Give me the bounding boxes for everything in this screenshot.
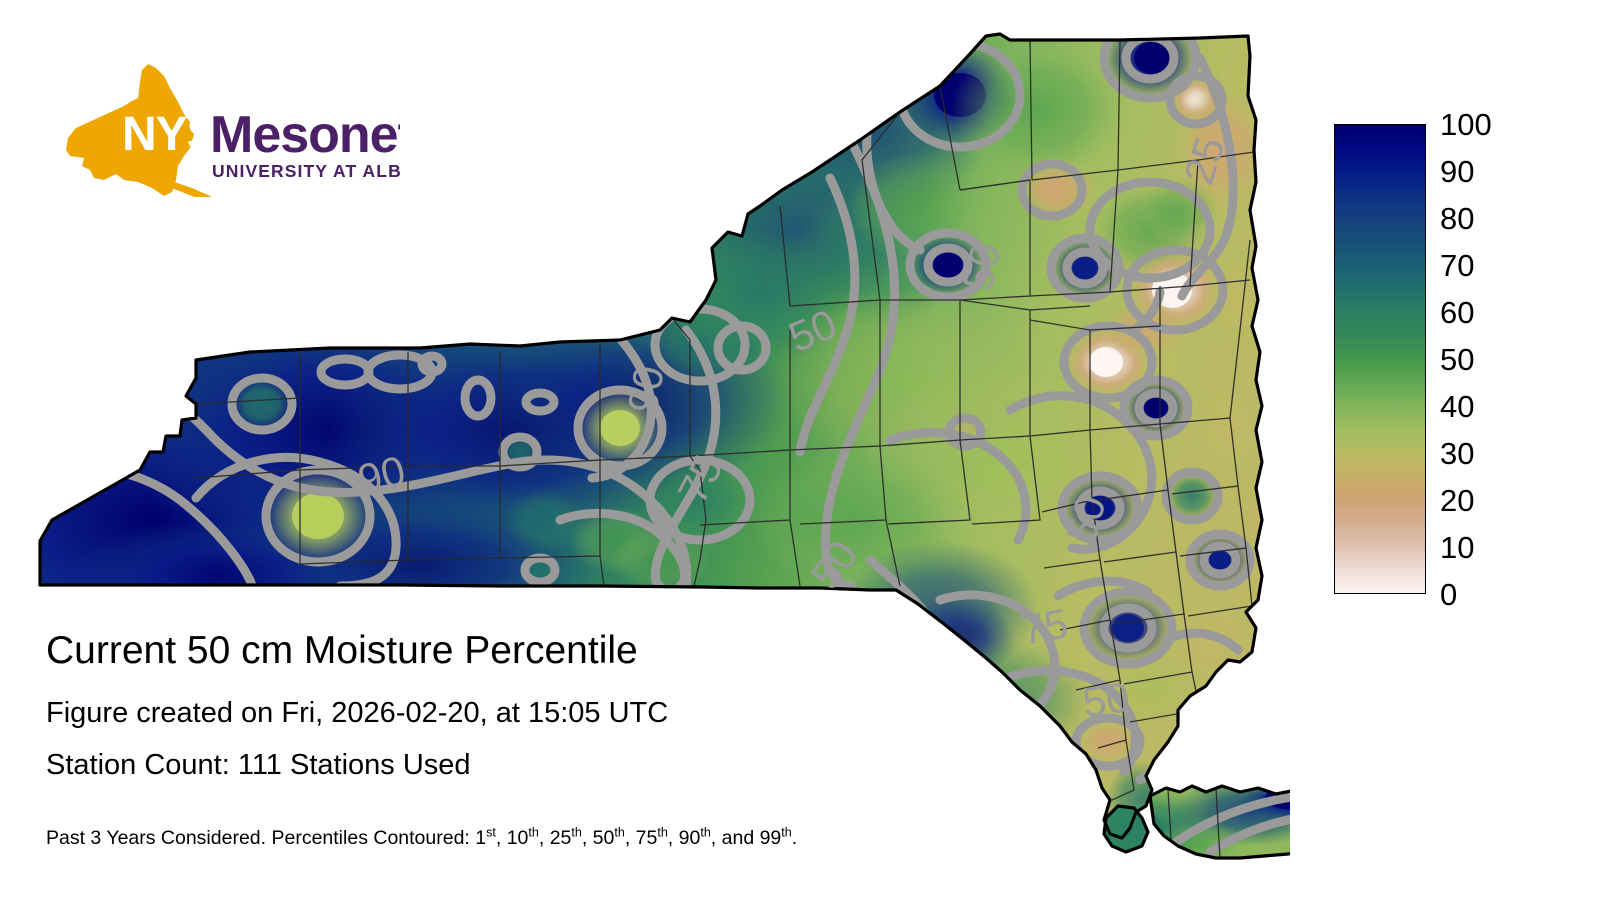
colorbar-tick-90: 90	[1440, 156, 1474, 187]
contour-level-50: 50th	[593, 827, 625, 849]
colorbar-tick-50: 50	[1440, 344, 1474, 375]
colorbar-tick-80: 80	[1440, 203, 1474, 234]
contour-level-10: 10th	[507, 827, 539, 849]
colorbar-tick-0: 0	[1440, 579, 1457, 610]
colorbar-tick-20: 20	[1440, 485, 1474, 516]
percentile-colorbar[interactable]	[1334, 124, 1426, 594]
ny-long-island-icon	[166, 182, 220, 197]
logo-mesonet-text: Mesonet	[210, 106, 400, 164]
logo-nys-text: NYS	[122, 108, 218, 161]
contour-label-50-5: 50	[1080, 673, 1133, 726]
colorbar-tick-100: 100	[1440, 109, 1492, 140]
figure-canvas: 25505050505075759090 NYS Mesonet UNIVERS…	[0, 0, 1600, 900]
colorbar-tick-40: 40	[1440, 391, 1474, 422]
contour-level-1: 1st	[475, 827, 496, 849]
logo-tagline-text: UNIVERSITY AT ALBANY	[212, 161, 400, 181]
contour-label-75-7: 75	[1017, 600, 1071, 654]
colorbar-gradient	[1335, 125, 1425, 593]
figure-created-timestamp: Figure created on Fri, 2026-02-20, at 15…	[46, 696, 668, 730]
colorbar-tick-labels: 1009080706050403020100	[1440, 108, 1560, 618]
colorbar-tick-10: 10	[1440, 532, 1474, 563]
contour-level-90: 90th	[679, 827, 711, 849]
contour-label-50-1: 50	[954, 239, 1010, 294]
colorbar-tick-30: 30	[1440, 438, 1474, 469]
nys-mesonet-logo: NYS Mesonet UNIVERSITY AT ALBANY	[60, 62, 400, 197]
station-count-label: Station Count: 111 Stations Used	[46, 748, 471, 782]
contour-level-99: 99th	[760, 827, 792, 849]
contour-levels-footnote: Past 3 Years Considered. Percentiles Con…	[46, 826, 797, 850]
contour-label-90-8: 90	[619, 362, 673, 416]
colorbar-tick-70: 70	[1440, 250, 1474, 281]
colorbar-tick-60: 60	[1440, 297, 1474, 328]
contour-level-25: 25th	[550, 827, 582, 849]
page-title: Current 50 cm Moisture Percentile	[46, 628, 638, 674]
contour-level-75: 75th	[636, 827, 668, 849]
